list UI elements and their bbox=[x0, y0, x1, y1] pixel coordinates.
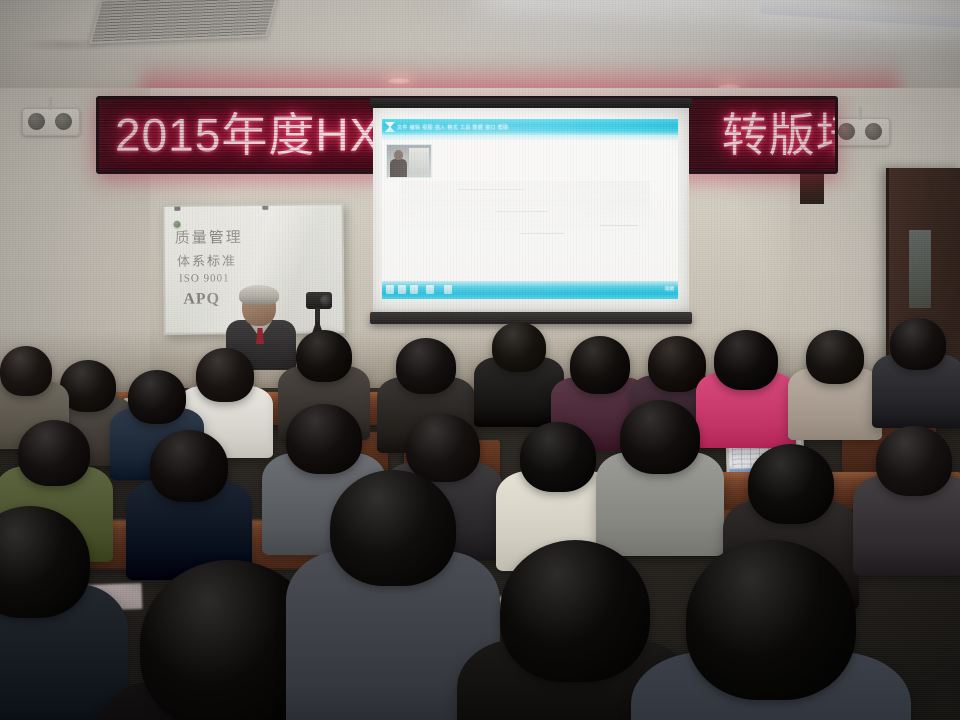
thumbnail-background bbox=[409, 148, 429, 174]
attendee-p-b10 bbox=[890, 318, 946, 370]
conference-room-photo: 2015年度HXQC 转版培训 文件 编辑 视图 插入 格式 工具 数据 窗口 … bbox=[0, 0, 960, 720]
attendee-p-m5 bbox=[520, 422, 596, 492]
attendee-head bbox=[748, 444, 834, 524]
attendee-head bbox=[492, 322, 546, 372]
taskbar-icon bbox=[398, 285, 406, 294]
led-banner-text-right: 转版培训 bbox=[722, 109, 838, 161]
presenter-video-thumbnail bbox=[386, 144, 432, 178]
attendee-p-b11 bbox=[0, 346, 52, 396]
projected-application-window: 文件 编辑 视图 插入 格式 工具 数据 窗口 帮助 bbox=[382, 119, 678, 299]
projected-window-statusbar: 就绪 bbox=[382, 281, 678, 299]
wall-speaker-right bbox=[832, 118, 890, 146]
taskbar-icon bbox=[426, 285, 434, 294]
attendee-p-b3 bbox=[296, 330, 352, 382]
attendee-head bbox=[0, 346, 52, 396]
presenter-hair bbox=[239, 285, 279, 305]
taskbar-icon bbox=[444, 285, 452, 294]
attendee-p-b8 bbox=[714, 330, 778, 390]
attendee-p-f5 bbox=[686, 540, 856, 700]
attendee-head bbox=[520, 422, 596, 492]
attendee-head bbox=[396, 338, 456, 394]
projected-document-body bbox=[400, 181, 650, 281]
attendee-p-b12 bbox=[128, 370, 186, 424]
speaker-driver-icon bbox=[838, 123, 855, 140]
attendee-head bbox=[0, 506, 90, 618]
attendee-head bbox=[806, 330, 864, 384]
projector-screen-surface: 文件 编辑 视图 插入 格式 工具 数据 窗口 帮助 bbox=[373, 108, 689, 314]
attendee-p-f4 bbox=[500, 540, 650, 682]
speaker-bracket bbox=[49, 97, 52, 110]
attendee-head bbox=[686, 540, 856, 700]
projected-window-titlebar: 文件 编辑 视图 插入 格式 工具 数据 窗口 帮助 bbox=[382, 119, 678, 135]
attendee-head bbox=[876, 426, 952, 496]
attendee-p-b6 bbox=[570, 336, 630, 394]
attendee-p-m6 bbox=[620, 400, 700, 474]
attendee-head bbox=[620, 400, 700, 474]
attendee-head bbox=[296, 330, 352, 382]
attendee-p-b5 bbox=[492, 322, 546, 372]
attendee-p-b9 bbox=[806, 330, 864, 384]
thumbnail-person-head bbox=[394, 150, 403, 160]
projector-screen-housing bbox=[370, 98, 692, 108]
attendee-head bbox=[128, 370, 186, 424]
projector-screen: 文件 编辑 视图 插入 格式 工具 数据 窗口 帮助 bbox=[370, 104, 692, 344]
speaker-bracket bbox=[859, 107, 862, 120]
attendee-p-b4 bbox=[396, 338, 456, 394]
speaker-driver-icon bbox=[865, 123, 882, 140]
attendee-p-m7 bbox=[748, 444, 834, 524]
door-glass-panel bbox=[909, 230, 931, 308]
attendee-head bbox=[714, 330, 778, 390]
taskbar-icon bbox=[410, 285, 418, 294]
wall-speaker-left bbox=[22, 108, 80, 136]
attendee-head bbox=[286, 404, 362, 474]
attendee-head bbox=[500, 540, 650, 682]
attendee-head bbox=[18, 420, 90, 486]
attendee-p-m8 bbox=[876, 426, 952, 496]
speaker-driver-icon bbox=[55, 113, 72, 130]
attendee-head bbox=[570, 336, 630, 394]
attendee-head bbox=[196, 348, 254, 402]
attendee-p-m2 bbox=[150, 430, 228, 502]
attendee-head bbox=[330, 470, 456, 586]
attendee-head bbox=[150, 430, 228, 502]
projected-status-text: 就绪 bbox=[665, 286, 674, 292]
app-logo-icon bbox=[385, 122, 395, 132]
projected-menu-text: 文件 编辑 视图 插入 格式 工具 数据 窗口 帮助 bbox=[397, 124, 509, 131]
attendee-head bbox=[890, 318, 946, 370]
attendee-p-f1 bbox=[0, 506, 90, 618]
projected-window-ribbon bbox=[382, 135, 678, 140]
attendee-p-f3 bbox=[330, 470, 456, 586]
thumbnail-person-body bbox=[390, 159, 407, 177]
camera-lens-icon bbox=[320, 295, 332, 306]
attendee-p-b2 bbox=[196, 348, 254, 402]
attendee-p-m1 bbox=[18, 420, 90, 486]
attendee-p-m3 bbox=[286, 404, 362, 474]
taskbar-icon bbox=[386, 285, 394, 294]
speaker-driver-icon bbox=[28, 113, 45, 130]
